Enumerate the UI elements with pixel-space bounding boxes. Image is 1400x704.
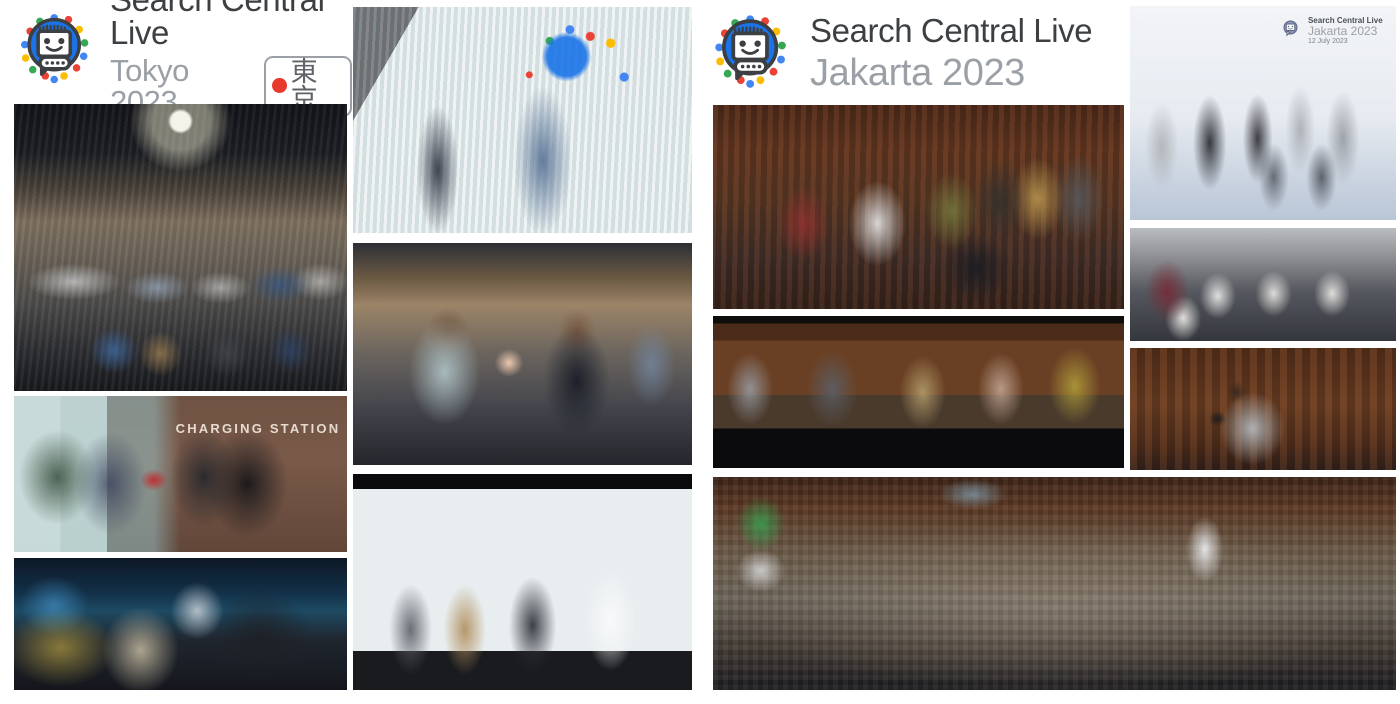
photo-image [1130, 228, 1396, 341]
collage-canvas: Search Central Live Tokyo 2023 東京 CHARGI… [0, 0, 1400, 704]
jakarta-attendee-question-mic [1130, 348, 1396, 470]
photo-image [1130, 348, 1396, 470]
booth-backdrop-line2: Jakarta 2023 [1308, 25, 1383, 38]
jakarta-attendees-swag-bags [1130, 228, 1396, 341]
photo-image: Search Central Live Jakarta 2023 12 July… [1130, 6, 1396, 220]
booth-backdrop-branding: Search Central Live Jakarta 2023 12 July… [1279, 17, 1383, 45]
japan-flag-dot-icon [272, 78, 287, 93]
photo-image [353, 243, 692, 465]
photo-image: CHARGING STATION [14, 396, 347, 552]
charging-station-sign: CHARGING STATION [176, 421, 341, 436]
photo-image [14, 104, 347, 391]
jakarta-photo-booth-group: Search Central Live Jakarta 2023 12 July… [1130, 6, 1396, 220]
googlebot-logo [1279, 17, 1303, 41]
photo-image [353, 474, 692, 690]
photo-image [14, 558, 347, 690]
jakarta-title-line1: Search Central Live [810, 14, 1092, 47]
tokyo-title-line1: Search Central Live [110, 0, 352, 49]
jakarta-title-line2: Jakarta 2023 [810, 54, 1092, 92]
photo-image [713, 477, 1396, 690]
tokyo-panel-discussion [353, 474, 692, 690]
tokyo-header: Search Central Live Tokyo 2023 東京 [12, 8, 352, 92]
googlebot-logo [706, 9, 798, 97]
photo-image [353, 7, 692, 233]
jakarta-header: Search Central Live Jakarta 2023 [706, 8, 1126, 98]
tokyo-reception-drinks [14, 558, 347, 690]
booth-backdrop-date: 12 July 2023 [1308, 38, 1383, 45]
jakarta-panel-discussion [713, 316, 1124, 468]
photo-image [713, 105, 1124, 309]
tokyo-audience-group-photo [14, 104, 347, 391]
tokyo-stage-speaker-yukata [353, 7, 692, 233]
tokyo-audience-heart-hands [353, 243, 692, 465]
photo-image [713, 316, 1124, 468]
tokyo-networking-charging-station: CHARGING STATION [14, 396, 347, 552]
googlebot-logo [12, 8, 100, 92]
jakarta-group-photo-large [713, 477, 1396, 690]
jakarta-audience-crowd [713, 105, 1124, 309]
